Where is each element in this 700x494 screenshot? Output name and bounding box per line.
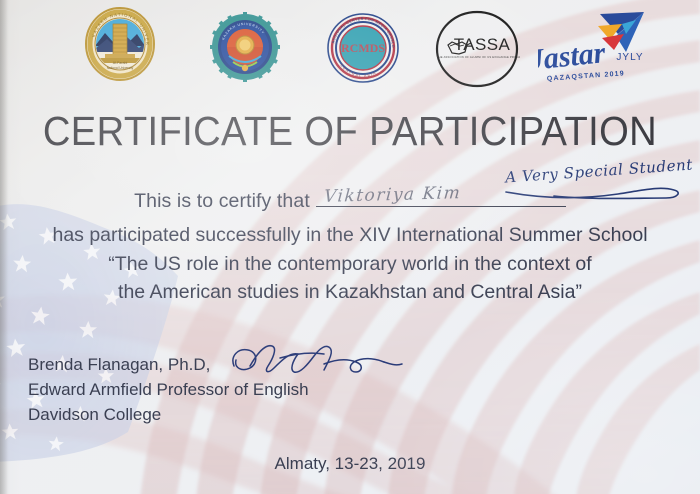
participant-name-handwriting: Viktoriya Kim [323,183,462,207]
signatory-name: Brenda Flanagan, Ph.D, [28,352,309,377]
certify-lead-text: This is to certify that [134,190,310,212]
certificate-title: CERTIFICATE OF PARTICIPATION [25,108,676,155]
jastar-jyly-logo-icon: Jastar JYLY QAZAQSTAN 2019 [538,8,658,88]
kaznu-oval-seal-icon: KAZAKH NATIONAL UNIVERSITY Al-Farabi Nat… [83,6,157,82]
logo-gear-seal: KAZAKH UNIVERSITY [209,12,281,82]
svg-text:Al-Farabi: Al-Farabi [113,61,128,65]
handwritten-note: A Very Special Student [505,155,694,186]
logo-tassa: TASSA THE ASSOCIATION OF ALUMNI OF US EX… [434,10,520,88]
signatory-institution: Davidson College [28,402,309,427]
svg-text:THE ASSOCIATION OF ALUMNI OF U: THE ASSOCIATION OF ALUMNI OF US EXCHANGE… [437,55,520,59]
tassa-circle-logo-icon: TASSA THE ASSOCIATION OF ALUMNI OF US EX… [434,10,520,88]
gear-ring-seal-icon: KAZAKH UNIVERSITY [209,12,281,82]
rcmds-round-seal-icon: REGIONAL CENTER FOR MEDIA DEVELOPMENT CE… [326,13,400,83]
signatory-position: Edward Armfield Professor of English [28,377,309,402]
program-title-line-2: the American studies in Kazakhstan and C… [0,281,700,304]
svg-text:RCMDS: RCMDS [341,41,385,55]
logo-kaznu-seal: KAZAKH NATIONAL UNIVERSITY Al-Farabi Nat… [83,6,157,82]
participant-name-field: Viktoriya Kim [316,186,566,207]
certify-line: This is to certify thatViktoriya Kim [0,186,700,213]
participation-line: has participated successfully in the XIV… [0,224,700,247]
program-title-line-1: “The US role in the contemporary world i… [0,253,700,276]
logo-row: KAZAKH NATIONAL UNIVERSITY Al-Farabi Nat… [0,6,700,86]
svg-text:Jastar: Jastar [538,36,607,77]
logo-rcmds-seal: REGIONAL CENTER FOR MEDIA DEVELOPMENT CE… [326,13,400,83]
signature-block: Brenda Flanagan, Ph.D, Edward Armfield P… [28,352,309,427]
logo-jastar-jyly: Jastar JYLY QAZAQSTAN 2019 [538,8,658,88]
place-and-date: Almaty, 13-23, 2019 [0,454,700,474]
svg-text:National University: National University [107,66,134,70]
svg-text:JYLY: JYLY [616,52,643,63]
certificate-document: KAZAKH NATIONAL UNIVERSITY Al-Farabi Nat… [0,0,700,494]
svg-text:TASSA: TASSA [454,35,511,54]
